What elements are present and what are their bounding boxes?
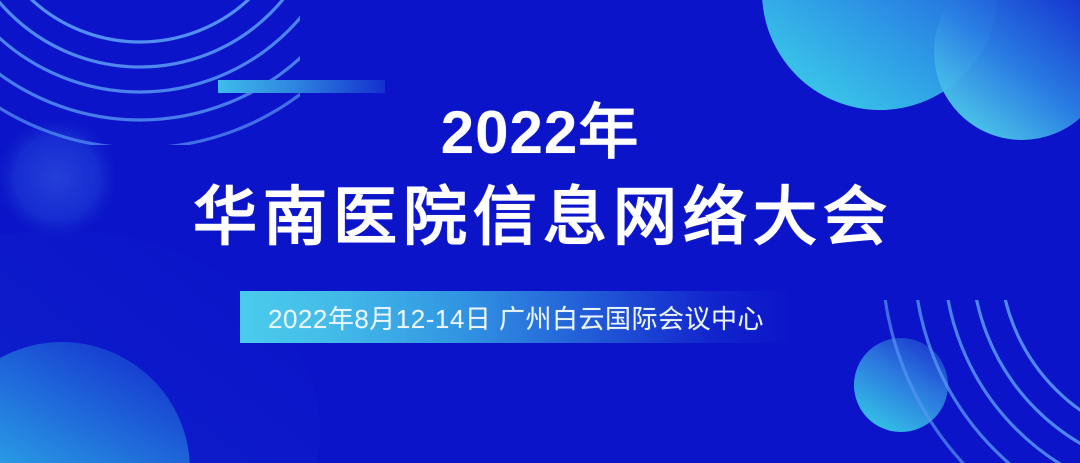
accent-bar — [218, 80, 385, 93]
subtitle-bar: 2022年8月12-14日 广州白云国际会议中心 — [240, 291, 792, 343]
banner-main-title: 华南医院信息网络大会 — [0, 183, 1080, 252]
banner-content: 2022年 华南医院信息网络大会 2022年8月12-14日 广州白云国际会议中… — [0, 0, 1080, 463]
banner-subtitle-text: 2022年8月12-14日 广州白云国际会议中心 — [240, 299, 764, 336]
conference-banner: 2022年 华南医院信息网络大会 2022年8月12-14日 广州白云国际会议中… — [0, 0, 1080, 463]
banner-year-heading: 2022年 — [0, 103, 1080, 163]
